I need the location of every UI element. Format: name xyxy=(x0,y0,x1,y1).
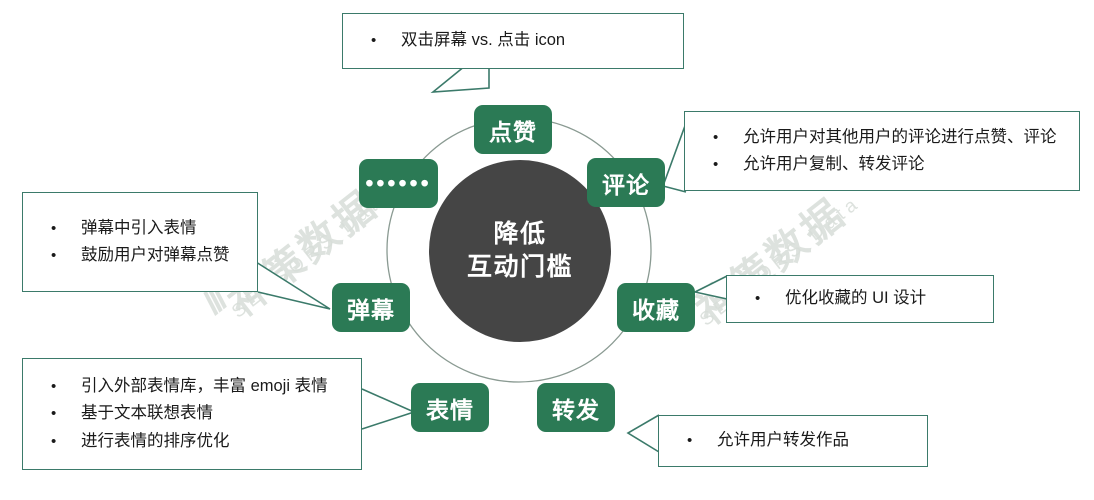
bullet-icon: • xyxy=(371,29,401,54)
callout-danmaku-list: • 弹幕中引入表情 • 鼓励用户对弹幕点赞 xyxy=(23,215,257,269)
hub-line-2: 互动门槛 xyxy=(467,251,573,284)
list-item: • 优化收藏的 UI 设计 xyxy=(727,285,993,312)
callout-danmaku-item-1: 鼓励用户对弹幕点赞 xyxy=(81,242,257,269)
node-favorite-label: 收藏 xyxy=(632,291,680,325)
callout-comment: • 允许用户对其他用户的评论进行点赞、评论 • 允许用户复制、转发评论 xyxy=(684,111,1080,191)
node-comment[interactable]: 评论 xyxy=(587,158,665,207)
list-item: • 鼓励用户对弹幕点赞 xyxy=(23,242,257,269)
node-danmaku-label: 弹幕 xyxy=(347,291,395,325)
bullet-icon: • xyxy=(755,287,785,312)
callout-favorite-item-0: 优化收藏的 UI 设计 xyxy=(785,285,993,312)
list-item: • 允许用户转发作品 xyxy=(659,427,927,454)
callout-repost-list: • 允许用户转发作品 xyxy=(659,427,927,454)
tail-repost xyxy=(628,415,659,452)
node-ellipsis-label: •••••• xyxy=(365,170,431,197)
callout-danmaku-item-0: 弹幕中引入表情 xyxy=(81,215,257,242)
node-like-label: 点赞 xyxy=(489,113,537,147)
callout-comment-item-1: 允许用户复制、转发评论 xyxy=(743,151,1079,178)
node-comment-label: 评论 xyxy=(602,166,650,200)
callout-repost-item-0: 允许用户转发作品 xyxy=(717,427,927,454)
node-ellipsis[interactable]: •••••• xyxy=(359,159,438,208)
list-item: • 允许用户复制、转发评论 xyxy=(685,151,1079,178)
diagram-canvas: /// 神策数据 SENSORS Data /// 神策数据 SENSORS D… xyxy=(0,0,1094,500)
callout-comment-item-0: 允许用户对其他用户的评论进行点赞、评论 xyxy=(743,124,1079,151)
callout-repost: • 允许用户转发作品 xyxy=(658,415,928,467)
node-repost[interactable]: 转发 xyxy=(537,383,615,432)
list-item: • 允许用户对其他用户的评论进行点赞、评论 xyxy=(685,124,1079,151)
node-like[interactable]: 点赞 xyxy=(474,105,552,154)
hub-line-1: 降低 xyxy=(493,218,546,251)
callout-like-list: • 双击屏幕 vs. 点击 icon xyxy=(343,27,683,54)
callout-emoji-list: • 引入外部表情库，丰富 emoji 表情 • 基于文本联想表情 • 进行表情的… xyxy=(23,373,361,455)
node-repost-label: 转发 xyxy=(552,391,600,425)
callout-comment-list: • 允许用户对其他用户的评论进行点赞、评论 • 允许用户复制、转发评论 xyxy=(685,124,1079,178)
hub-circle: 降低 互动门槛 xyxy=(429,160,611,342)
list-item: • 引入外部表情库，丰富 emoji 表情 xyxy=(23,373,361,400)
list-item: • 基于文本联想表情 xyxy=(23,400,361,427)
node-emoji-label: 表情 xyxy=(426,391,474,425)
node-favorite[interactable]: 收藏 xyxy=(617,283,695,332)
tail-danmaku xyxy=(256,262,330,309)
bullet-icon: • xyxy=(687,429,717,454)
callout-favorite: • 优化收藏的 UI 设计 xyxy=(726,275,994,323)
bullet-icon: • xyxy=(51,244,81,269)
list-item: • 双击屏幕 vs. 点击 icon xyxy=(343,27,683,54)
list-item: • 弹幕中引入表情 xyxy=(23,215,257,242)
callout-danmaku: • 弹幕中引入表情 • 鼓励用户对弹幕点赞 xyxy=(22,192,258,292)
callout-like: • 双击屏幕 vs. 点击 icon xyxy=(342,13,684,69)
callout-emoji: • 引入外部表情库，丰富 emoji 表情 • 基于文本联想表情 • 进行表情的… xyxy=(22,358,362,470)
callout-emoji-item-2: 进行表情的排序优化 xyxy=(81,428,361,455)
tail-comment xyxy=(663,123,686,192)
bullet-icon: • xyxy=(51,375,81,400)
callout-emoji-item-1: 基于文本联想表情 xyxy=(81,400,361,427)
tail-favorite xyxy=(695,276,727,299)
list-item: • 进行表情的排序优化 xyxy=(23,428,361,455)
bullet-icon: • xyxy=(713,153,743,178)
callout-favorite-list: • 优化收藏的 UI 设计 xyxy=(727,285,993,312)
callout-like-item-0: 双击屏幕 vs. 点击 icon xyxy=(401,27,683,54)
bullet-icon: • xyxy=(51,430,81,455)
callout-emoji-item-0: 引入外部表情库，丰富 emoji 表情 xyxy=(81,373,361,400)
bullet-icon: • xyxy=(51,402,81,427)
tail-emoji xyxy=(362,389,414,429)
node-emoji[interactable]: 表情 xyxy=(411,383,489,432)
node-danmaku[interactable]: 弹幕 xyxy=(332,283,410,332)
bullet-icon: • xyxy=(51,217,81,242)
bullet-icon: • xyxy=(713,126,743,151)
